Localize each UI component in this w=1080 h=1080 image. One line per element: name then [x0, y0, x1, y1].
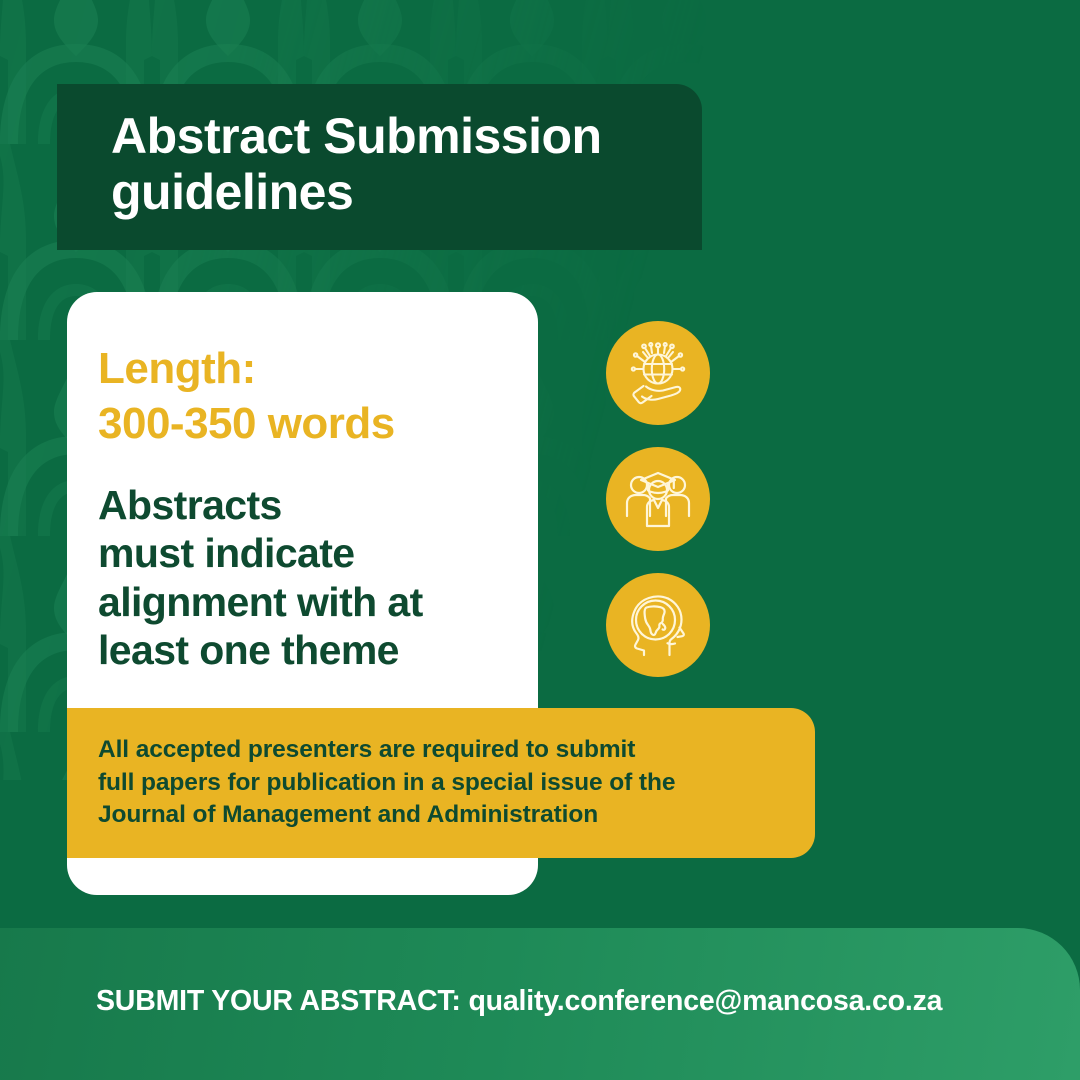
length-label: Length: 300-350 words	[98, 342, 508, 451]
publication-banner: All accepted presenters are required to …	[67, 708, 815, 858]
head-africa-brain-icon	[606, 573, 710, 677]
submit-abstract-label: SUBMIT YOUR ABSTRACT:	[96, 985, 468, 1017]
submit-abstract-line: SUBMIT YOUR ABSTRACT: quality.conference…	[0, 985, 942, 1024]
footer-band: SUBMIT YOUR ABSTRACT: quality.conference…	[0, 928, 1080, 1080]
theme-requirement-text: Abstracts must indicate alignment with a…	[98, 481, 508, 675]
graduates-group-icon	[606, 447, 710, 551]
submission-email[interactable]: quality.conference@mancosa.co.za	[468, 985, 942, 1017]
icon-column	[606, 321, 714, 677]
header-plate: Abstract Submission guidelines	[57, 84, 702, 250]
publication-banner-text: All accepted presenters are required to …	[67, 734, 699, 832]
page-title: Abstract Submission guidelines	[57, 108, 702, 226]
hand-holding-globe-network-icon	[606, 321, 710, 425]
poster-canvas: Abstract Submission guidelines	[0, 0, 1080, 1080]
